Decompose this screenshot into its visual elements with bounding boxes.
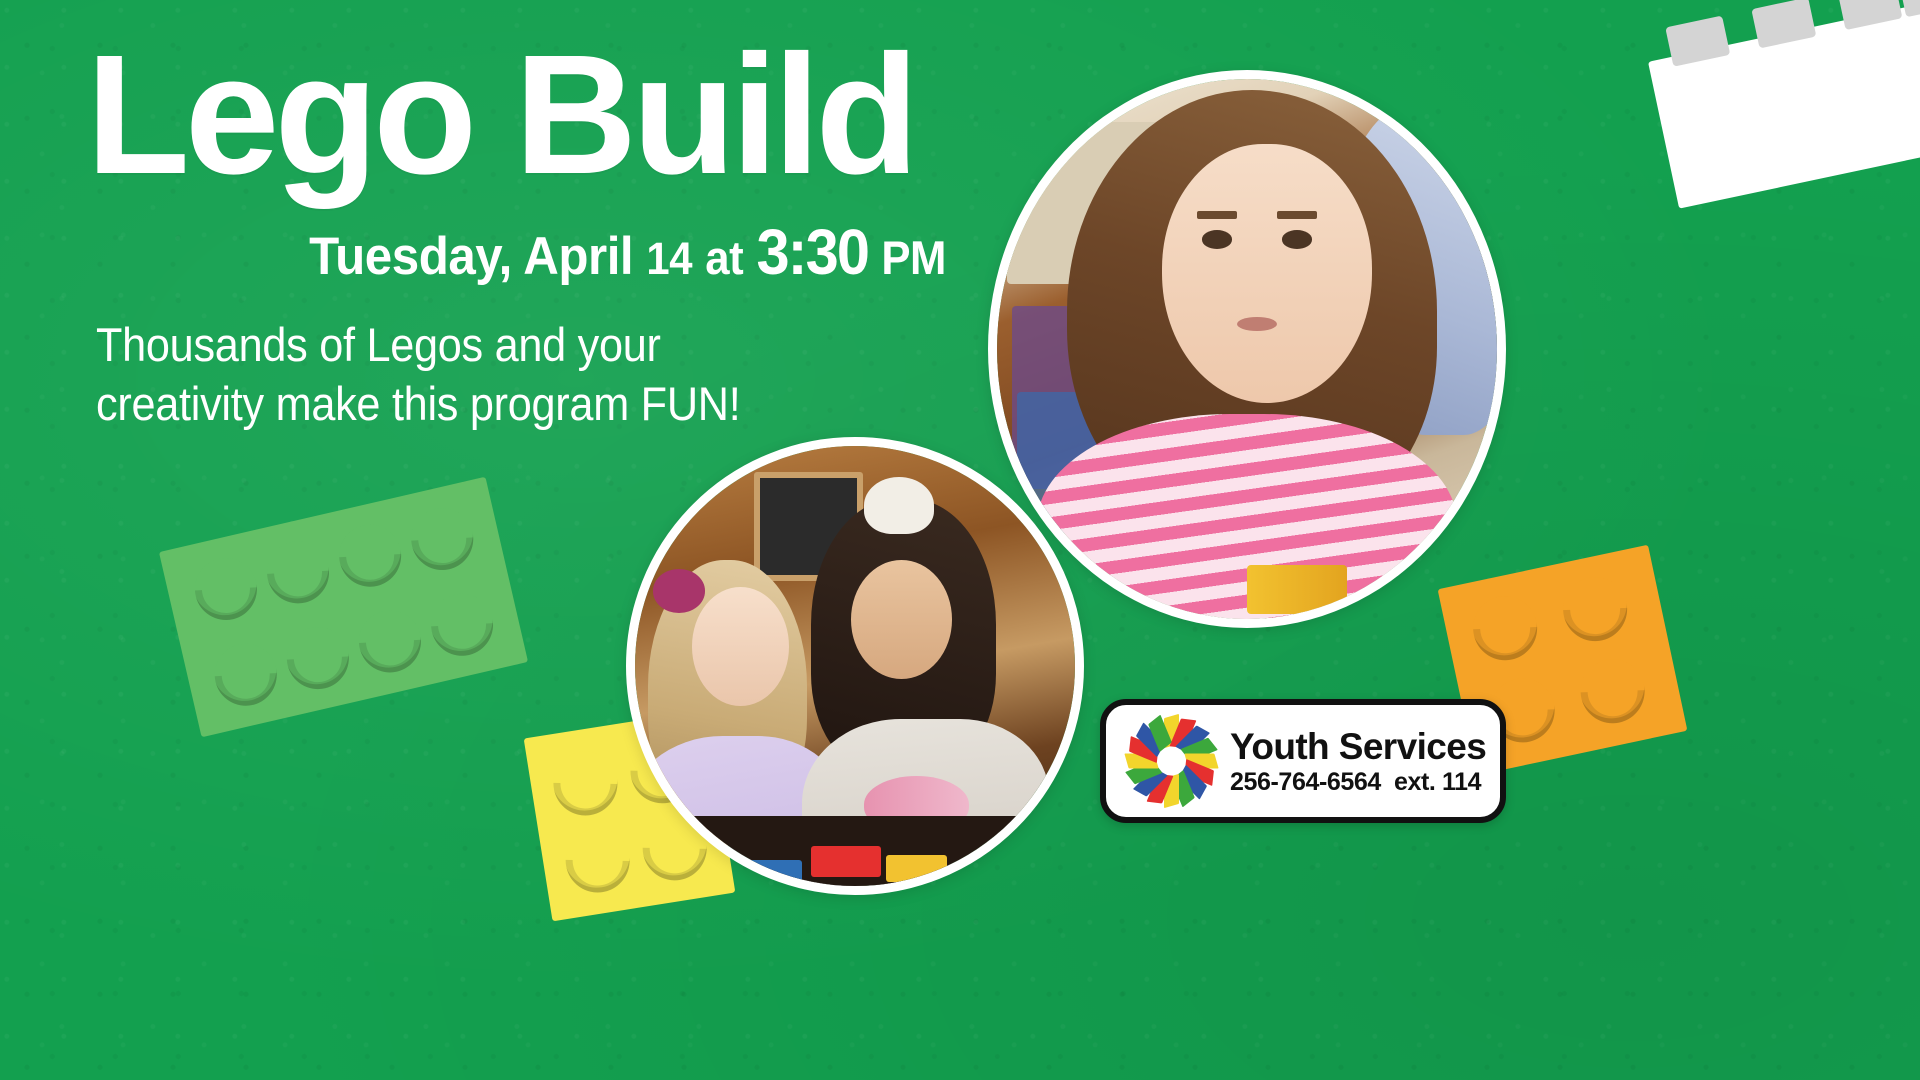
badge-phone-number: 256-764-6564: [1230, 768, 1381, 796]
event-time: 3:30: [756, 216, 868, 288]
event-meridiem: PM: [881, 231, 946, 284]
lego-piece: [811, 846, 881, 877]
flyer-canvas: Lego Build Tuesday, April 14 at 3:30 PM …: [0, 0, 1920, 1080]
badge-extension: ext. 114: [1394, 768, 1481, 796]
event-day-number: 14: [646, 233, 692, 284]
youth-services-badge[interactable]: Youth Services 256-764-6564 ext. 114: [1100, 699, 1506, 823]
lego-piece: [749, 860, 802, 882]
description-line-2: creativity make this program FUN!: [96, 374, 915, 433]
lego-piece: [886, 855, 948, 881]
child-face: [1162, 144, 1372, 403]
lego-piece: [1247, 565, 1347, 614]
photo-scene: [635, 446, 1075, 886]
child-face: [851, 560, 952, 679]
child-mouth: [1237, 317, 1277, 331]
hair-scrunchie: [653, 569, 706, 613]
child-eyebrow: [1197, 211, 1237, 219]
copy-block: Lego Build Tuesday, April 14 at 3:30 PM …: [86, 34, 986, 434]
badge-title: Youth Services: [1230, 728, 1486, 765]
event-description: Thousands of Legos and your creativity m…: [96, 315, 915, 433]
child-eyebrow: [1277, 211, 1317, 219]
badge-text: Youth Services 256-764-6564 ext. 114: [1230, 728, 1486, 795]
page-title: Lego Build: [86, 34, 986, 197]
event-connector: at: [705, 231, 743, 284]
event-day: Tuesday, April: [309, 227, 633, 286]
badge-contact: 256-764-6564 ext. 114: [1230, 770, 1486, 795]
child-eye: [1202, 230, 1232, 248]
child-face: [692, 587, 789, 706]
description-line-1: Thousands of Legos and your: [96, 315, 915, 374]
event-datetime: Tuesday, April 14 at 3:30 PM: [146, 215, 946, 289]
hair-bow: [864, 477, 934, 534]
two-girls-building-photo: [626, 437, 1084, 895]
youth-services-pinwheel-logo: [1124, 714, 1218, 808]
child-eye: [1282, 230, 1312, 248]
